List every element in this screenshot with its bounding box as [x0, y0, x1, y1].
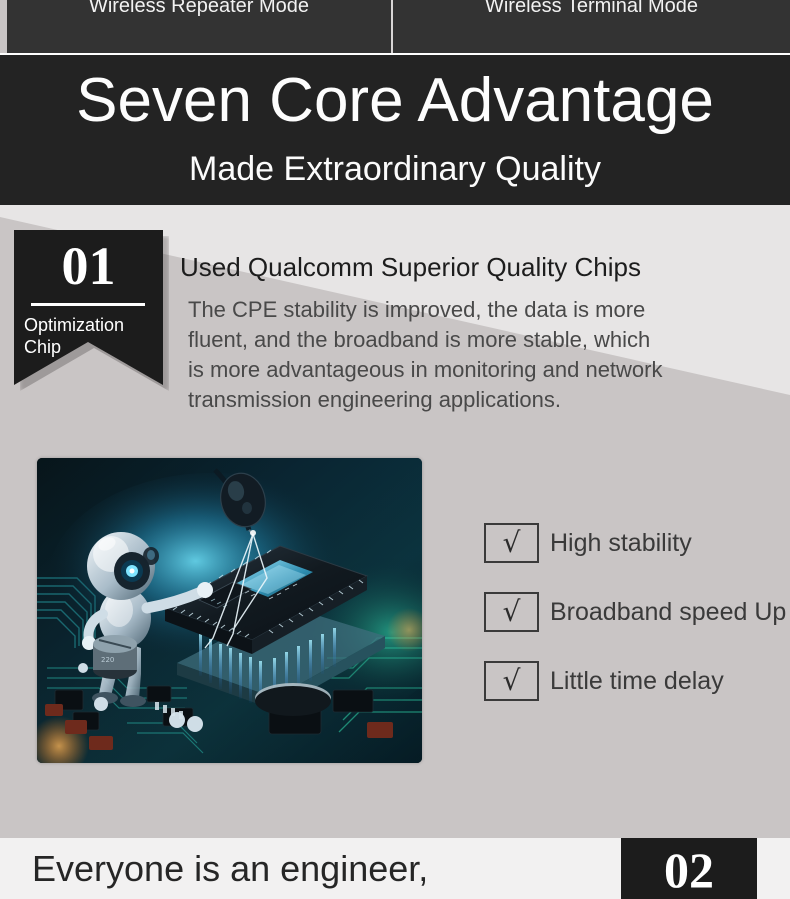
checklist-label: High stability: [550, 529, 692, 557]
page-subtitle: Made Extraordinary Quality: [0, 150, 790, 188]
badge-02: 02: [621, 838, 757, 899]
badge-number: 02: [621, 838, 757, 899]
body-line: fluent, and the broadband is more stable…: [188, 325, 768, 355]
next-section-title: Everyone is an engineer,: [32, 847, 428, 891]
ribbon-divider: [31, 303, 145, 306]
ribbon-number: 01: [14, 236, 163, 296]
tab-wireless-terminal-mode[interactable]: Wireless Terminal Mode: [393, 0, 790, 53]
body-line: The CPE stability is improved, the data …: [188, 295, 768, 325]
tab-label: Wireless Repeater Mode: [89, 0, 309, 17]
page-title: Seven Core Advantage: [0, 67, 790, 135]
title-banner: Seven Core Advantage Made Extraordinary …: [0, 53, 790, 205]
mode-tab-strip: Wireless Repeater Mode Wireless Terminal…: [0, 0, 790, 53]
checkmark-icon: √: [484, 523, 539, 563]
checklist-item: √ Broadband speed Up: [484, 592, 790, 632]
checkmark-icon: √: [484, 592, 539, 632]
svg-text:220: 220: [101, 656, 114, 664]
checklist-label: Little time delay: [550, 667, 724, 695]
checkmark-icon: √: [484, 661, 539, 701]
chip-illustration: 220: [37, 458, 422, 763]
advertisement-page: Wireless Repeater Mode Wireless Terminal…: [0, 0, 790, 899]
checklist-item: √ Little time delay: [484, 661, 790, 701]
checklist-label: Broadband speed Up: [550, 598, 786, 626]
body-line: is more advantageous in monitoring and n…: [188, 355, 768, 385]
next-section-header: Everyone is an engineer, 02: [0, 838, 790, 899]
chip-circuit-board-image: 220: [37, 458, 422, 763]
tab-wireless-repeater-mode[interactable]: Wireless Repeater Mode: [7, 0, 393, 53]
checklist-item: √ High stability: [484, 523, 790, 563]
body-line: transmission engineering applications.: [188, 385, 768, 415]
feature-section: 01 Optimization Chip Used Qualcomm Super…: [0, 205, 790, 838]
ribbon-label: Optimization Chip: [24, 314, 163, 358]
ribbon-badge-01: 01 Optimization Chip: [14, 230, 163, 385]
section-body: The CPE stability is improved, the data …: [188, 295, 768, 415]
section-heading: Used Qualcomm Superior Quality Chips: [180, 251, 780, 283]
tab-label: Wireless Terminal Mode: [485, 0, 698, 17]
feature-checklist: √ High stability √ Broadband speed Up √ …: [484, 523, 790, 730]
